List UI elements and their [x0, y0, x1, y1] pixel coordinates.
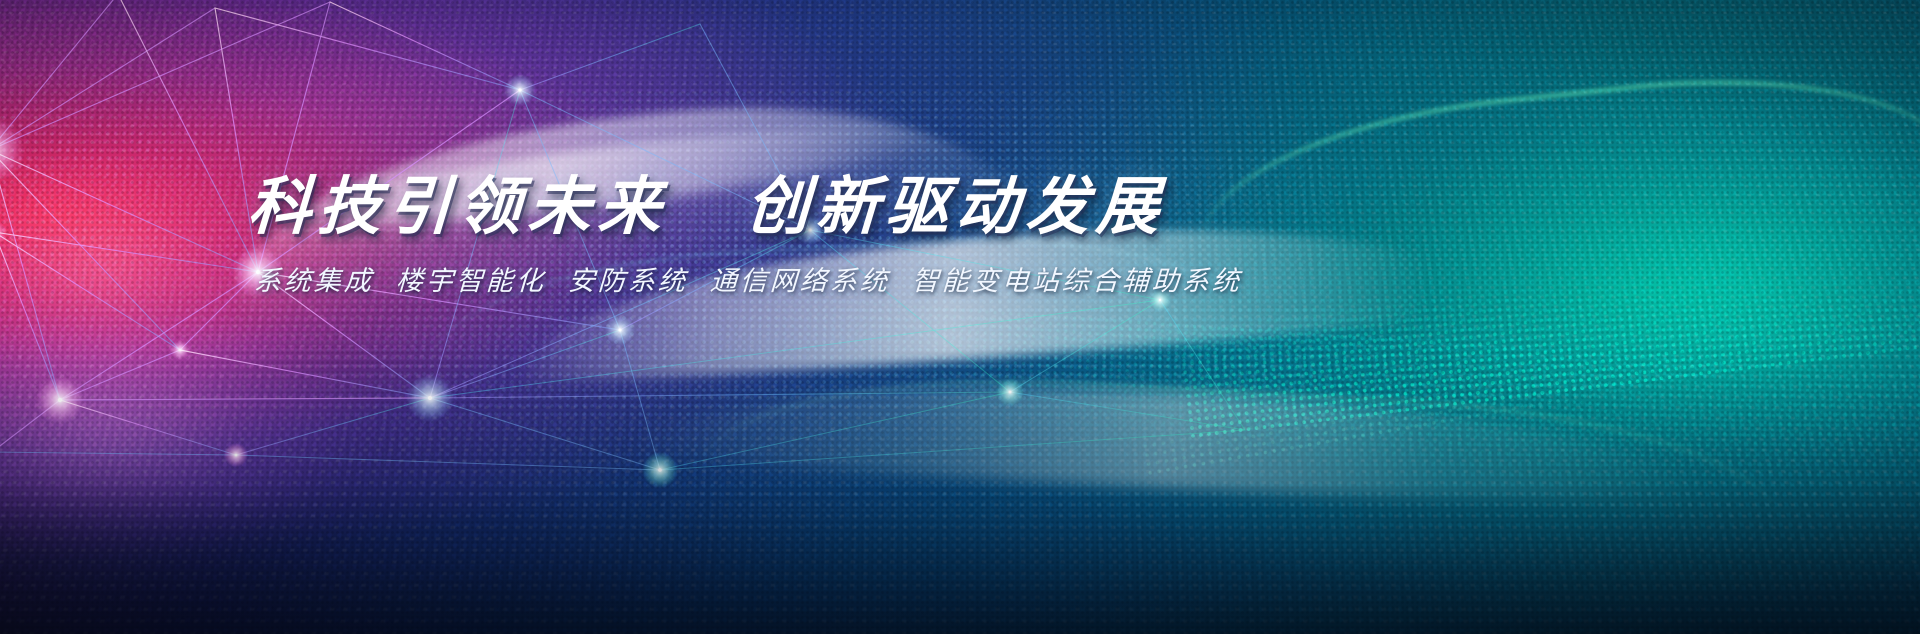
- headline-segment-1: 科技引领未来: [246, 172, 670, 242]
- subtitle-item-3: 通信网络系统: [709, 266, 891, 296]
- tech-banner: 科技引领未来创新驱动发展 系统集成楼宇智能化安防系统通信网络系统智能变电站综合辅…: [0, 0, 1920, 634]
- subtitle-item-1: 楼宇智能化: [395, 266, 547, 296]
- subtitle-item-4: 智能变电站综合辅助系统: [911, 266, 1243, 296]
- banner-text-block: 科技引领未来创新驱动发展 系统集成楼宇智能化安防系统通信网络系统智能变电站综合辅…: [248, 176, 1648, 295]
- subtitle-item-0: 系统集成: [253, 266, 375, 296]
- subtitle-item-2: 安防系统: [567, 266, 689, 296]
- polygon-wireframe-network: [0, 0, 1920, 634]
- page-title: 科技引领未来创新驱动发展: [246, 176, 1649, 239]
- subtitle: 系统集成楼宇智能化安防系统通信网络系统智能变电站综合辅助系统: [253, 268, 1648, 295]
- headline-segment-2: 创新驱动发展: [744, 172, 1168, 242]
